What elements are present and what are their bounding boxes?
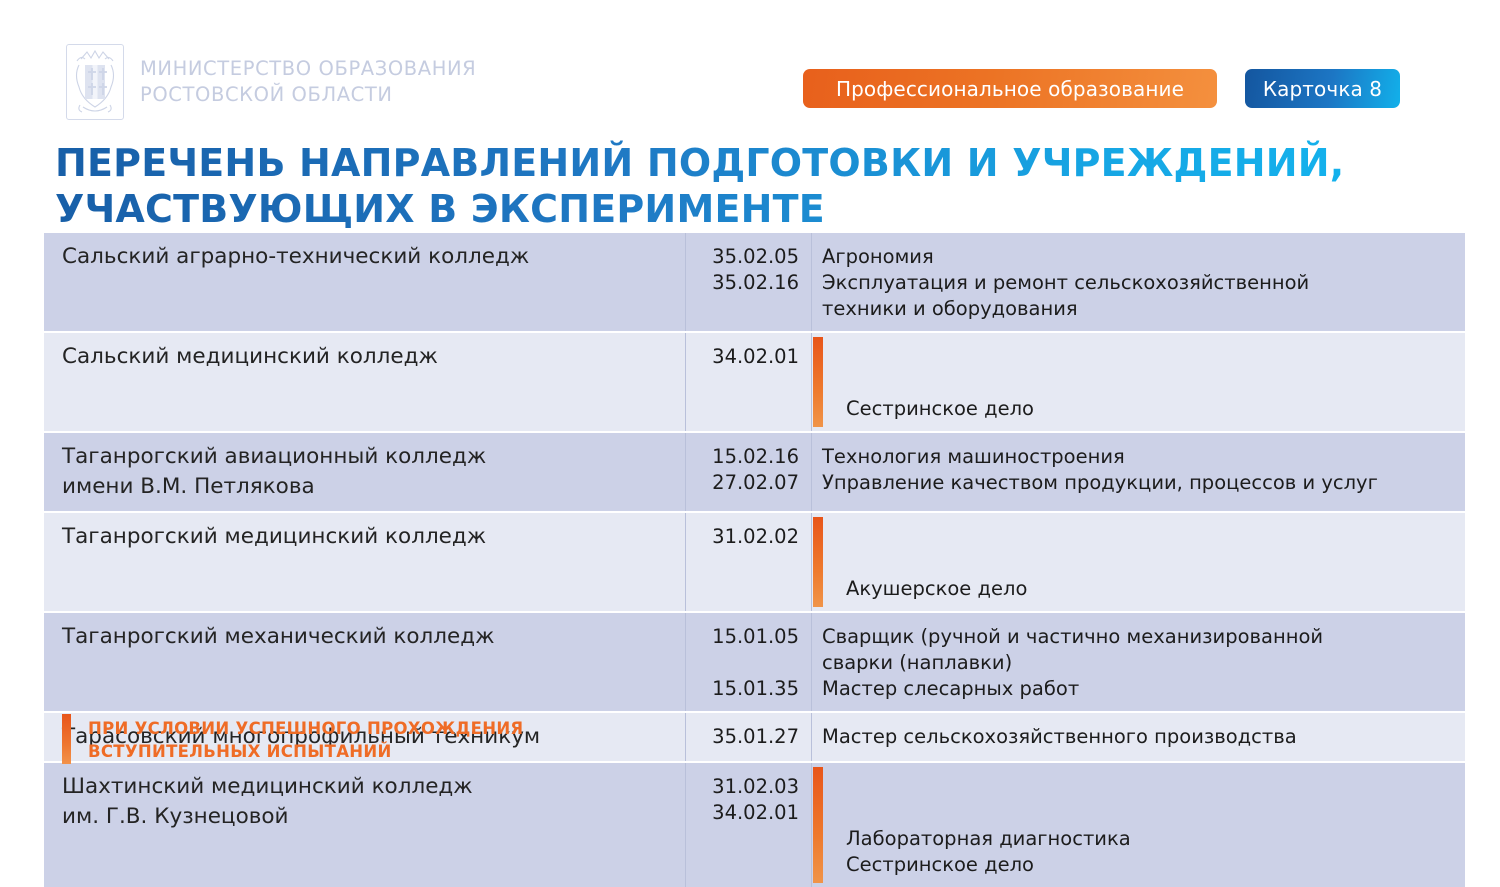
table-row: Шахтинский медицинский колледж им. Г.В. …: [44, 761, 1465, 887]
program-codes: 31.02.03 34.02.01: [686, 763, 812, 887]
institution-name: Шахтинский медицинский колледж им. Г.В. …: [44, 763, 686, 887]
table-row: Таганрогский медицинский колледж 31.02.0…: [44, 511, 1465, 611]
ministry-name: МИНИСТЕРСТВО ОБРАЗОВАНИЯ РОСТОВСКОЙ ОБЛА…: [140, 56, 476, 108]
card-number-badge[interactable]: Карточка 8: [1245, 69, 1400, 108]
program-names: Мастер сельскохозяйственного производств…: [812, 713, 1465, 761]
institution-name: Таганрогский медицинский колледж: [44, 513, 686, 611]
program-names: Акушерское дело: [846, 577, 1027, 600]
program-names: Технология машиностроения Управление кач…: [812, 433, 1465, 511]
page-header: МИНИСТЕРСТВО ОБРАЗОВАНИЯ РОСТОВСКОЙ ОБЛА…: [0, 0, 1500, 130]
program-names: Сварщик (ручной и частично механизирован…: [812, 613, 1465, 711]
program-codes: 35.01.27: [686, 713, 812, 761]
coat-of-arms-icon: [66, 44, 124, 120]
orange-marker-icon: [813, 767, 823, 883]
institution-name: Сальский аграрно-технический колледж: [44, 233, 686, 331]
table-row: Сальский медицинский колледж 34.02.01 Се…: [44, 331, 1465, 431]
orange-marker-icon: [813, 517, 823, 607]
program-names-wrapper: Сестринское дело: [812, 333, 1465, 431]
footnote-text: ПРИ УСЛОВИИ УСПЕШНОГО ПРОХОЖДЕНИЯ ВСТУПИ…: [88, 714, 523, 763]
program-names: Агрономия Эксплуатация и ремонт сельскох…: [812, 233, 1465, 331]
page-title: ПЕРЕЧЕНЬ НАПРАВЛЕНИЙ ПОДГОТОВКИ И УЧРЕЖД…: [55, 140, 1395, 232]
program-codes: 35.02.05 35.02.16: [686, 233, 812, 331]
orange-marker-icon: [813, 337, 823, 427]
institution-name: Таганрогский авиационный колледж имени В…: [44, 433, 686, 511]
table-row: Таганрогский механический колледж 15.01.…: [44, 611, 1465, 711]
table-row: Сальский аграрно-технический колледж 35.…: [44, 233, 1465, 331]
program-names: Лабораторная диагностика Сестринское дел…: [846, 827, 1131, 876]
institution-name: Таганрогский механический колледж: [44, 613, 686, 711]
programs-table: Сальский аграрно-технический колледж 35.…: [44, 233, 1465, 887]
program-codes: 31.02.02: [686, 513, 812, 611]
section-badge-professional-education[interactable]: Профессиональное образование: [803, 69, 1217, 108]
program-codes: 15.01.05 15.01.35: [686, 613, 812, 711]
footnote-bar-icon: [62, 714, 71, 764]
table-row: Таганрогский авиационный колледж имени В…: [44, 431, 1465, 511]
institution-name: Сальский медицинский колледж: [44, 333, 686, 431]
program-names: Сестринское дело: [846, 397, 1034, 420]
program-codes: 34.02.01: [686, 333, 812, 431]
ministry-brand: МИНИСТЕРСТВО ОБРАЗОВАНИЯ РОСТОВСКОЙ ОБЛА…: [66, 44, 476, 120]
footnote: ПРИ УСЛОВИИ УСПЕШНОГО ПРОХОЖДЕНИЯ ВСТУПИ…: [62, 714, 523, 764]
program-names-wrapper: Лабораторная диагностика Сестринское дел…: [812, 763, 1465, 887]
program-codes: 15.02.16 27.02.07: [686, 433, 812, 511]
program-names-wrapper: Акушерское дело: [812, 513, 1465, 611]
